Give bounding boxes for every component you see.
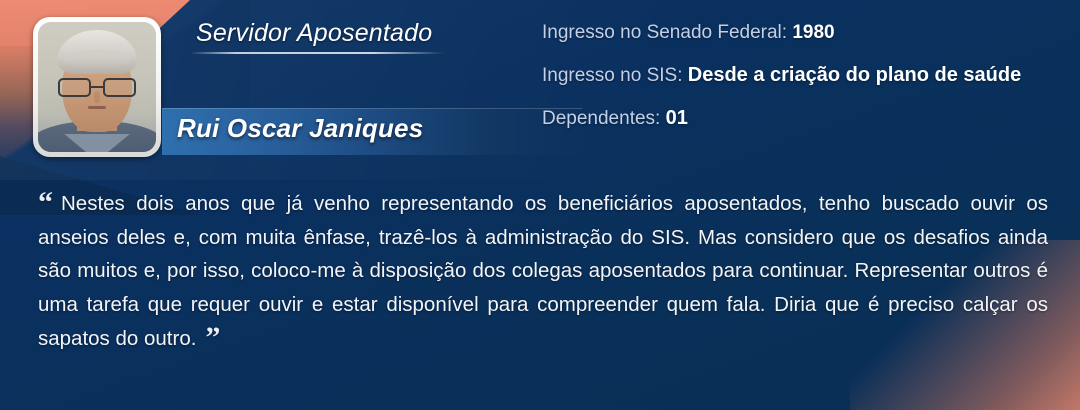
quote-paragraph: “Nestes dois anos que já venho represent… (38, 186, 1048, 356)
info-label-entry-sis: Ingresso no SIS: (542, 65, 682, 86)
person-name: Rui Oscar Janiques (177, 113, 423, 144)
avatar (33, 17, 161, 157)
quote-open-icon: “ (38, 186, 52, 219)
info-row-entry-sis: Ingresso no SIS: Desde a criação do plan… (542, 64, 1062, 87)
photo-lens-left (58, 78, 91, 98)
info-label-entry-senate: Ingresso no Senado Federal: (542, 22, 787, 43)
role-title: Servidor Aposentado (196, 19, 432, 48)
quote-close-icon: ” (205, 321, 219, 354)
testimonial-quote: “Nestes dois anos que já venho represent… (38, 186, 1048, 356)
glasses-icon (58, 78, 136, 98)
photo-mouth (88, 106, 106, 109)
retired-member-profile-card: Servidor Aposentado Rui Oscar Janiques I… (0, 0, 1080, 410)
photo-glasses-bridge (91, 86, 103, 88)
name-banner-highlight (162, 108, 582, 109)
info-row-dependents: Dependentes: 01 (542, 107, 1062, 130)
quote-body-text: Nestes dois anos que já venho representa… (38, 192, 1048, 350)
portrait-photo (38, 22, 156, 152)
info-row-entry-senate: Ingresso no Senado Federal: 1980 (542, 22, 1062, 44)
info-label-dependents: Dependentes: (542, 108, 660, 129)
info-value-entry-senate: 1980 (792, 22, 834, 43)
info-list: Ingresso no Senado Federal: 1980 Ingress… (542, 22, 1062, 130)
photo-lens-right (103, 78, 136, 98)
info-value-dependents: 01 (666, 107, 688, 129)
info-value-entry-sis: Desde a criação do plano de saúde (688, 64, 1021, 86)
role-title-underline (190, 52, 444, 54)
